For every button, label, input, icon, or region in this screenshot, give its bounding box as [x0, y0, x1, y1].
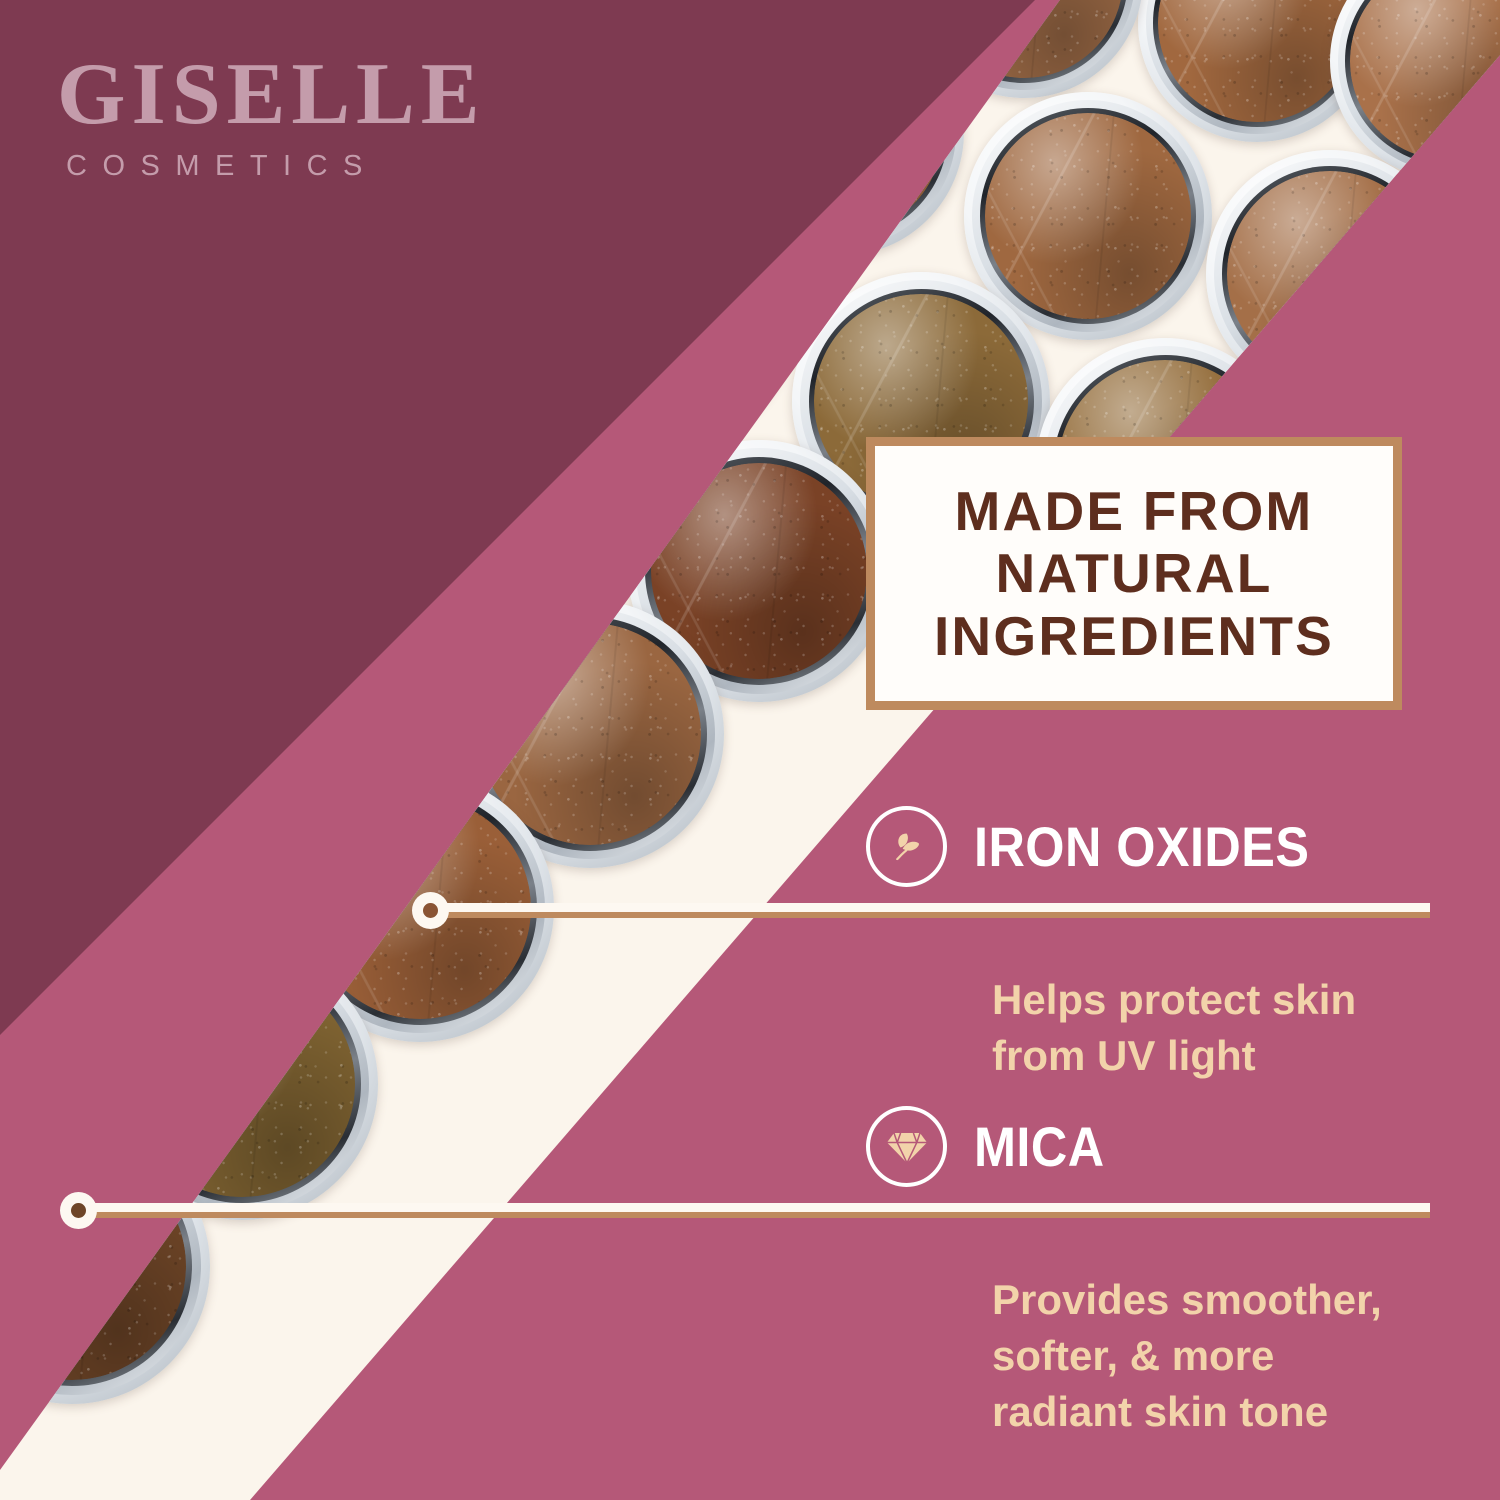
product-jar — [1206, 150, 1454, 398]
ingredient-header: MICA — [866, 1106, 1436, 1187]
headline-box: MADE FROM NATURAL INGREDIENTS — [866, 437, 1402, 710]
ingredient-title: IRON OXIDES — [974, 819, 1309, 875]
ingredient-mica: MICA — [866, 1106, 1436, 1187]
product-jar — [0, 1048, 8, 1324]
ingredient-iron-oxides: IRON OXIDES — [866, 806, 1436, 887]
ingredient-description: Helps protect skin from UV light — [992, 972, 1422, 1084]
poster-canvas: GISELLE COSMETICS MADE FROM NATURAL INGR… — [0, 0, 1500, 1500]
connector-gold-line — [430, 912, 1430, 918]
product-jar — [0, 1128, 210, 1404]
connector-white-line — [78, 1203, 1430, 1212]
product-jar — [106, 948, 378, 1220]
connector-endpoint-dot — [412, 892, 449, 929]
mica-connector — [78, 1203, 1430, 1218]
connector-gold-line — [78, 1212, 1430, 1218]
brand-name: GISELLE — [57, 52, 485, 138]
jar-rim — [0, 1048, 8, 1324]
connector-white-line — [430, 903, 1430, 912]
headline-line-3: INGREDIENTS — [934, 605, 1334, 667]
ingredient-header: IRON OXIDES — [866, 806, 1436, 887]
headline-line-2: NATURAL — [934, 542, 1334, 604]
headline-line-1: MADE FROM — [934, 480, 1334, 542]
ingredient-title: MICA — [974, 1119, 1105, 1175]
jar-powder-texture — [1227, 171, 1432, 376]
jar-powder-texture — [129, 971, 354, 1196]
brand-tagline: COSMETICS — [66, 150, 485, 183]
brand-logo: GISELLE COSMETICS — [57, 52, 485, 183]
jar-powder-texture — [985, 113, 1190, 318]
connector-endpoint-dot — [60, 1192, 97, 1229]
leaf-icon — [866, 806, 947, 887]
iron-oxides-connector — [430, 903, 1430, 918]
ingredient-description: Provides smoother, softer, & more radian… — [992, 1272, 1422, 1440]
diamond-icon — [866, 1106, 947, 1187]
headline-text: MADE FROM NATURAL INGREDIENTS — [934, 480, 1334, 666]
